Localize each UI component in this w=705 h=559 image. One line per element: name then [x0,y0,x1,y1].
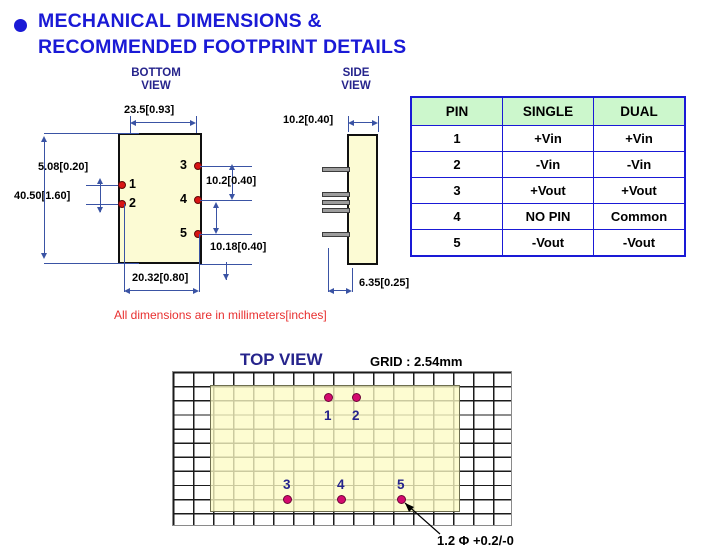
bottom-view-pin-4-label: 4 [180,192,187,206]
bottom-view-right-dimension-lower-label: 10.18[0.40] [210,241,266,253]
pin-pitch-arrow-down [97,207,103,213]
height-extension-line-top [44,133,139,134]
side-view-caption: SIDE VIEW [316,67,396,93]
footprint-pad-3-label: 3 [283,477,291,492]
side-view-lead-3 [322,200,350,205]
cell-pin: 5 [411,230,503,257]
cell-single: +Vin [503,126,594,152]
bottom-view-caption: BOTTOM VIEW [116,67,196,93]
footprint-pad-2 [352,393,361,402]
cell-single: -Vout [503,230,594,257]
cell-pin: 4 [411,204,503,230]
bottom-view-height-dimension-label: 40.50[1.60] [14,190,70,202]
cell-pin: 1 [411,126,503,152]
bottom-right-arrow-down [223,274,229,280]
bottom-dimension-arrow-left [124,288,130,294]
cell-dual: -Vin [594,152,686,178]
table-row: 2 -Vin -Vin [411,152,685,178]
cell-single: NO PIN [503,204,594,230]
bottom-dimension-arrow-right [193,288,199,294]
bottom-dimension-line [128,290,196,291]
footprint-pad-3 [283,495,292,504]
side-view-lead-1 [322,167,350,172]
page-title-line-1: MECHANICAL DIMENSIONS & [38,10,322,33]
bottom-view-pin-3-label: 3 [180,158,187,172]
side-view-lead-4 [322,208,350,213]
pin5-extension-line [200,234,252,235]
bottom-view-pin-5-label: 5 [180,226,187,240]
right-dim-lower-arrow-up [213,202,219,208]
side-view-top-dimension-label: 10.2[0.40] [283,114,333,126]
side-view-bottom-arrow-right [346,288,352,294]
bottom-view-width-dimension-label: 23.5[0.93] [124,104,174,116]
side-view-top-ext-right [378,116,379,132]
footprint-pad-4-label: 4 [337,477,345,492]
footprint-pad-1 [324,393,333,402]
right-dim-upper-arrow-up [229,164,235,170]
pin-pitch-arrow-up [97,178,103,184]
side-view-bottom-arrow-left [328,288,334,294]
bottom-view-right-dimension-upper-label: 10.2[0.40] [206,175,256,187]
table-row: 1 +Vin +Vin [411,126,685,152]
pin-assignment-table: PIN SINGLE DUAL 1 +Vin +Vin 2 -Vin -Vin … [410,96,686,257]
footprint-pad-1-label: 1 [324,408,332,423]
table-header-pin: PIN [411,97,503,126]
cell-dual: Common [594,204,686,230]
table-header-dual: DUAL [594,97,686,126]
right-dim-lower-arrow-down [213,228,219,234]
cell-pin: 2 [411,152,503,178]
cell-single: +Vout [503,178,594,204]
footprint-outline [210,385,460,512]
bottom-dim-extension-right [199,234,200,292]
pad-diameter-callout: 1.2 Φ +0.2/-0 [437,533,514,548]
pin4-extension-line [200,200,252,201]
side-view-bottom-ext-right [352,268,353,292]
width-dimension-line [134,122,192,123]
pin-pitch-dimension-label: 5.08[0.20] [38,161,88,173]
side-view-bottom-ext-left [328,248,329,292]
grid-spec-label: GRID : 2.54mm [370,354,462,369]
side-view-lead-5 [322,232,350,237]
height-dimension-arrow-down [41,253,47,259]
pad-callout-leader-line [395,498,450,538]
bottom-view-pin-1-dot [118,181,126,189]
dimensions-note: All dimensions are in millimeters[inches… [114,308,327,322]
cell-dual: +Vout [594,178,686,204]
top-view-label: TOP VIEW [240,350,323,370]
footprint-pad-5-label: 5 [397,477,405,492]
pin3-extension-line [200,166,252,167]
height-dimension-arrow-up [41,136,47,142]
side-view-lead-2 [322,192,350,197]
bottom-view-bottom-dimension-label: 20.32[0.80] [132,272,188,284]
side-view-top-ext-left [348,116,349,132]
bottom-dim-extension-left [124,204,125,292]
footprint-pad-2-label: 2 [352,408,360,423]
cell-dual: +Vin [594,126,686,152]
table-row: 5 -Vout -Vout [411,230,685,257]
right-dim-upper-arrow-down [229,194,235,200]
page-title-line-2: RECOMMENDED FOOTPRINT DETAILS [38,36,406,59]
height-dimension-line [44,139,45,257]
cell-dual: -Vout [594,230,686,257]
table-row: 3 +Vout +Vout [411,178,685,204]
side-view-top-dimension-line [352,122,374,123]
bottom-view-pin-2-label: 2 [129,196,136,210]
heading-bullet-icon [14,19,27,32]
side-view-bottom-dimension-label: 6.35[0.25] [359,277,409,289]
footprint-pad-4 [337,495,346,504]
side-view-package-body [347,134,378,265]
bottom-view-pin-1-label: 1 [129,177,136,191]
cell-single: -Vin [503,152,594,178]
table-header-single: SINGLE [503,97,594,126]
table-row: 4 NO PIN Common [411,204,685,230]
table-header-row: PIN SINGLE DUAL [411,97,685,126]
cell-pin: 3 [411,178,503,204]
